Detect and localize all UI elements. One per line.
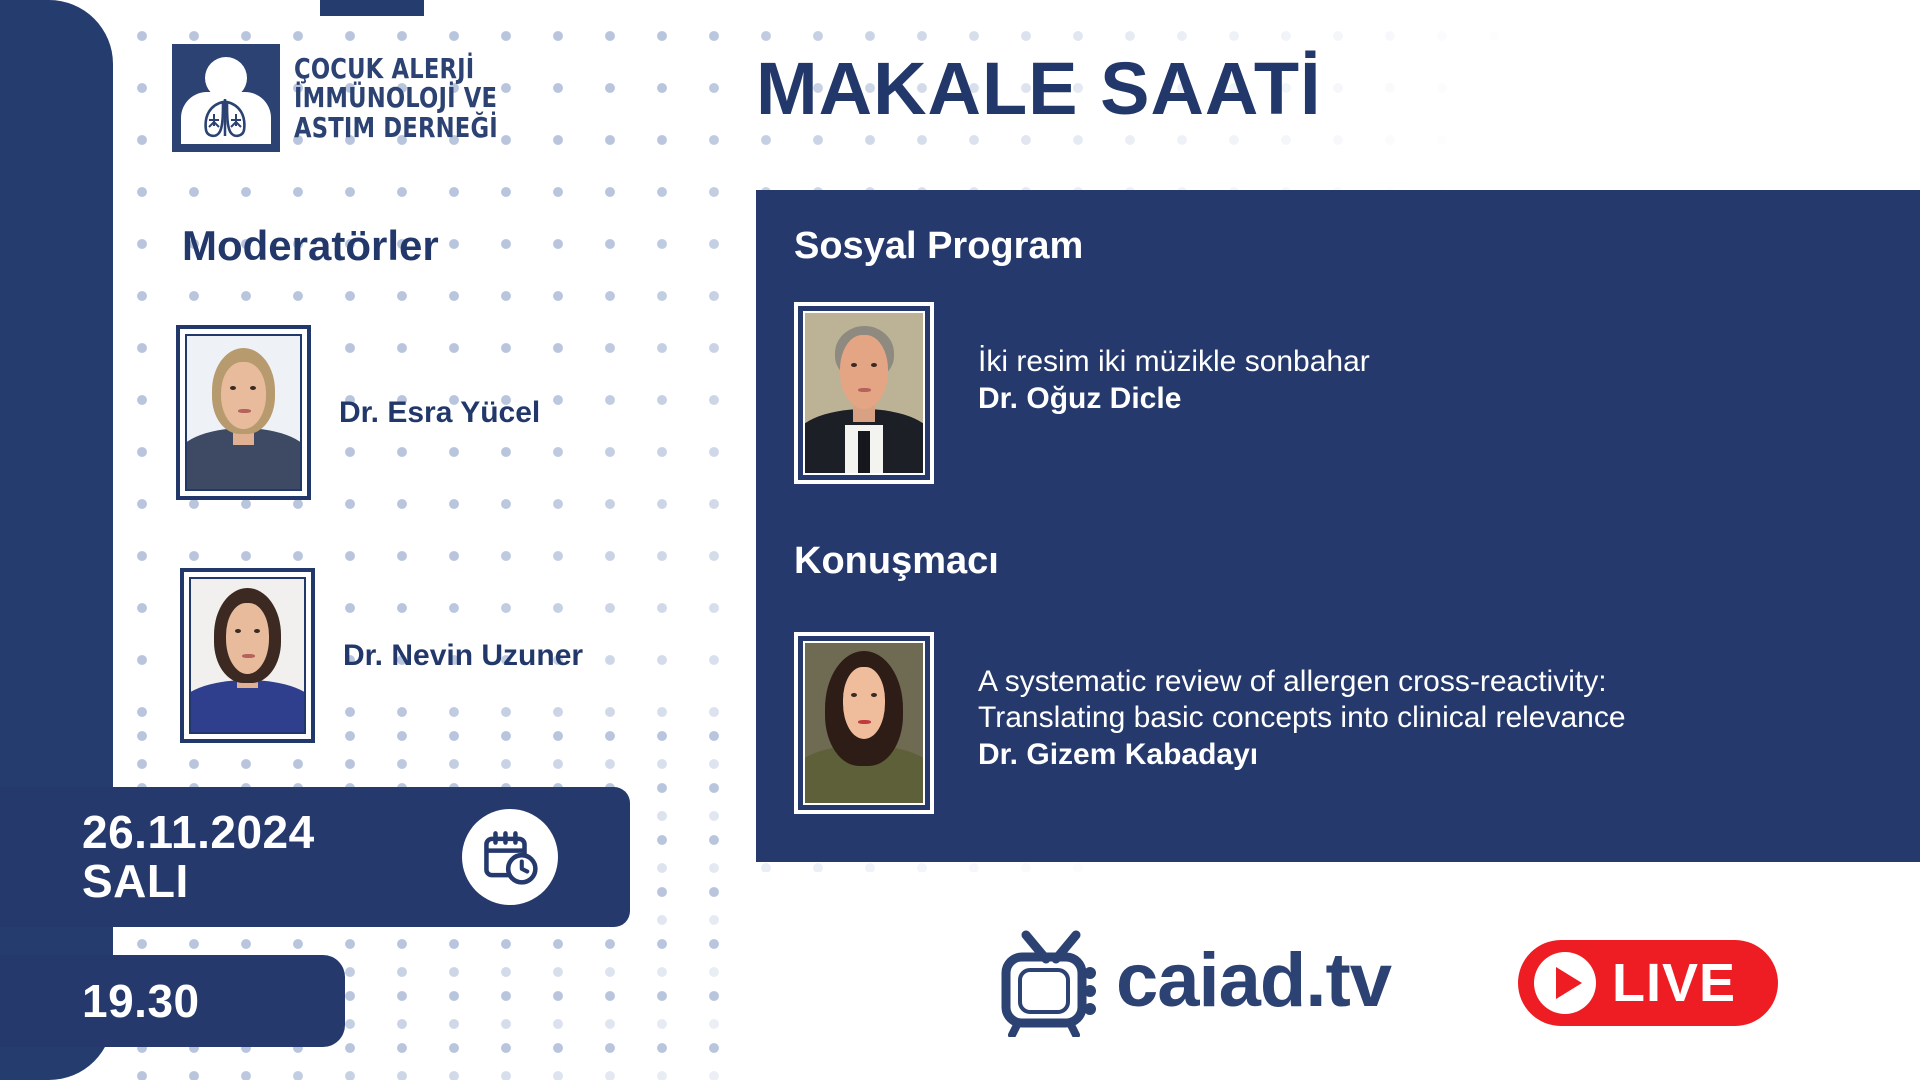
section-heading-konusmaci: Konuşmacı xyxy=(794,540,999,583)
logo-line-1: ÇOCUK ALERJİ xyxy=(294,54,498,83)
moderator-photo-frame xyxy=(176,325,311,500)
page-title: MAKALE SAATİ xyxy=(756,46,1322,131)
time-block: 19.30 xyxy=(0,955,345,1047)
entry-topic: İki resim iki müzikle sonbahar xyxy=(978,344,1370,380)
entry-topic-line-1: A systematic review of allergen cross-re… xyxy=(978,664,1626,700)
live-label: LIVE xyxy=(1612,952,1736,1014)
moderator-name: Dr. Esra Yücel xyxy=(339,396,540,430)
logo-wordmark: ÇOCUK ALERJİ İMMÜNOLOJİ VE ASTIM DERNEĞİ xyxy=(294,54,498,141)
moderator-item: Dr. Nevin Uzuner xyxy=(180,568,583,743)
program-panel: Sosyal Program xyxy=(756,190,1920,862)
event-date: 26.11.2024 xyxy=(82,808,315,857)
television-icon xyxy=(990,925,1110,1037)
portrait-gizem-kabadayi xyxy=(805,643,923,803)
event-day: SALI xyxy=(82,857,315,906)
child-lungs-icon xyxy=(172,44,280,152)
program-entry-sosyal: İki resim iki müzikle sonbahar Dr. Oğuz … xyxy=(794,302,1370,484)
association-logo: ÇOCUK ALERJİ İMMÜNOLOJİ VE ASTIM DERNEĞİ xyxy=(172,44,521,152)
entry-text: İki resim iki müzikle sonbahar Dr. Oğuz … xyxy=(978,302,1370,416)
logo-line-2: İMMÜNOLOJİ VE xyxy=(294,83,498,112)
program-entry-konusmaci: A systematic review of allergen cross-re… xyxy=(794,632,1626,814)
poster-canvas: ÇOCUK ALERJİ İMMÜNOLOJİ VE ASTIM DERNEĞİ… xyxy=(0,0,1920,1080)
moderator-item: Dr. Esra Yücel xyxy=(176,325,540,500)
moderators-heading: Moderatörler xyxy=(182,222,439,270)
calendar-clock-icon xyxy=(462,809,558,905)
site-name: caiad.tv xyxy=(1116,943,1391,1019)
portrait-esra-yucel xyxy=(187,336,300,489)
event-date-text: 26.11.2024 SALI xyxy=(82,808,315,906)
caiad-tv-logo[interactable]: caiad.tv xyxy=(990,925,1391,1037)
section-heading-sosyal-program: Sosyal Program xyxy=(794,225,1083,268)
top-accent-tab xyxy=(320,0,424,16)
event-time: 19.30 xyxy=(82,974,200,1028)
portrait-nevin-uzuner xyxy=(191,579,304,732)
entry-text: A systematic review of allergen cross-re… xyxy=(978,632,1626,772)
play-icon xyxy=(1534,952,1596,1014)
entry-person: Dr. Gizem Kabadayı xyxy=(978,738,1626,772)
portrait-oguz-dicle xyxy=(805,313,923,473)
logo-line-3: ASTIM DERNEĞİ xyxy=(294,113,498,142)
entry-topic-line-2: Translating basic concepts into clinical… xyxy=(978,700,1626,736)
speaker-photo-frame xyxy=(794,632,934,814)
date-block: 26.11.2024 SALI xyxy=(0,787,630,927)
moderator-photo-frame xyxy=(180,568,315,743)
moderator-name: Dr. Nevin Uzuner xyxy=(343,639,583,673)
live-badge[interactable]: LIVE xyxy=(1518,940,1778,1026)
speaker-photo-frame xyxy=(794,302,934,484)
entry-person: Dr. Oğuz Dicle xyxy=(978,382,1370,416)
